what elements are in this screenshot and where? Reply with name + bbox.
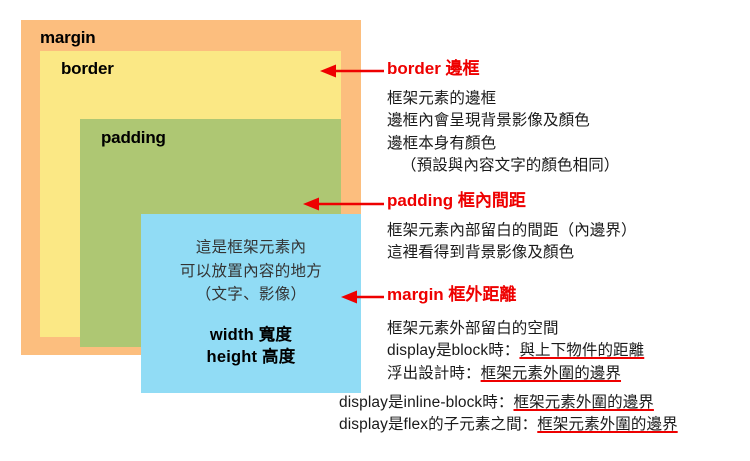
extra-note-line-1-emphasis: 框架元素外圍的邊界 bbox=[514, 394, 654, 411]
border-note-line-1: 框架元素的邊框 bbox=[387, 88, 619, 110]
content-description-line-2: 可以放置內容的地方 bbox=[180, 260, 322, 284]
padding-note-line-1: 框架元素內部留白的間距（內邊界） bbox=[387, 220, 637, 242]
box-model-diagram: margin border padding 這是框架元素內 可以放置內容的地方 … bbox=[21, 20, 361, 355]
margin-note-line-2-prefix: display是block時： bbox=[387, 342, 519, 359]
margin-note-heading: margin 框外距離 bbox=[387, 286, 516, 303]
margin-note-line-2: display是block時：與上下物件的距離 bbox=[387, 340, 644, 362]
border-note-line-2: 邊框內會呈現背景影像及顏色 bbox=[387, 110, 619, 132]
content-dimensions: width 寬度 height 高度 bbox=[207, 324, 296, 369]
extra-note-line-1-prefix: display是inline-block時： bbox=[339, 394, 514, 411]
margin-note-line-1: 框架元素外部留白的空間 bbox=[387, 318, 644, 340]
padding-note-body: 框架元素內部留白的間距（內邊界） 這裡看得到背景影像及顏色 bbox=[387, 220, 637, 265]
padding-label: padding bbox=[101, 129, 166, 146]
content-description-line-1: 這是框架元素內 bbox=[180, 236, 322, 260]
border-note-body: 框架元素的邊框 邊框內會呈現背景影像及顏色 邊框本身有顏色 （預設與內容文字的顏… bbox=[387, 88, 619, 178]
padding-note-line-2: 這裡看得到背景影像及顏色 bbox=[387, 242, 637, 264]
margin-label: margin bbox=[40, 29, 95, 46]
margin-arrow-icon bbox=[339, 290, 386, 304]
content-description-line-3: （文字、影像） bbox=[180, 283, 322, 307]
content-box: 這是框架元素內 可以放置內容的地方 （文字、影像） width 寬度 heigh… bbox=[141, 214, 361, 393]
border-box: border padding 這是框架元素內 可以放置內容的地方 （文字、影像）… bbox=[40, 51, 341, 337]
margin-note-line-2-emphasis: 與上下物件的距離 bbox=[519, 342, 644, 359]
border-note-heading: border 邊框 bbox=[387, 60, 480, 77]
content-height-label: height 高度 bbox=[207, 346, 296, 368]
content-width-label: width 寬度 bbox=[207, 324, 296, 346]
border-label: border bbox=[61, 60, 114, 77]
extra-note-line-1: display是inline-block時：框架元素外圍的邊界 bbox=[339, 392, 678, 414]
extra-note-body: display是inline-block時：框架元素外圍的邊界 display是… bbox=[339, 392, 678, 437]
extra-note-line-2-emphasis: 框架元素外圍的邊界 bbox=[537, 416, 677, 433]
margin-note-line-3: 浮出設計時：框架元素外圍的邊界 bbox=[387, 363, 644, 385]
border-note-line-3: 邊框本身有顏色 bbox=[387, 133, 619, 155]
margin-note-line-3-prefix: 浮出設計時： bbox=[387, 365, 481, 382]
border-arrow-icon bbox=[318, 64, 386, 78]
padding-note-heading: padding 框內間距 bbox=[387, 192, 526, 209]
extra-note-line-2: display是flex的子元素之間：框架元素外圍的邊界 bbox=[339, 414, 678, 436]
margin-box: margin border padding 這是框架元素內 可以放置內容的地方 … bbox=[21, 20, 361, 355]
extra-note-line-2-prefix: display是flex的子元素之間： bbox=[339, 416, 537, 433]
padding-box: padding 這是框架元素內 可以放置內容的地方 （文字、影像） width … bbox=[80, 119, 341, 347]
border-note-line-4: （預設與內容文字的顏色相同） bbox=[387, 155, 619, 177]
content-description: 這是框架元素內 可以放置內容的地方 （文字、影像） bbox=[180, 236, 322, 307]
margin-note-line-3-emphasis: 框架元素外圍的邊界 bbox=[481, 365, 621, 382]
margin-note-body: 框架元素外部留白的空間 display是block時：與上下物件的距離 浮出設計… bbox=[387, 318, 644, 385]
padding-arrow-icon bbox=[301, 197, 386, 211]
